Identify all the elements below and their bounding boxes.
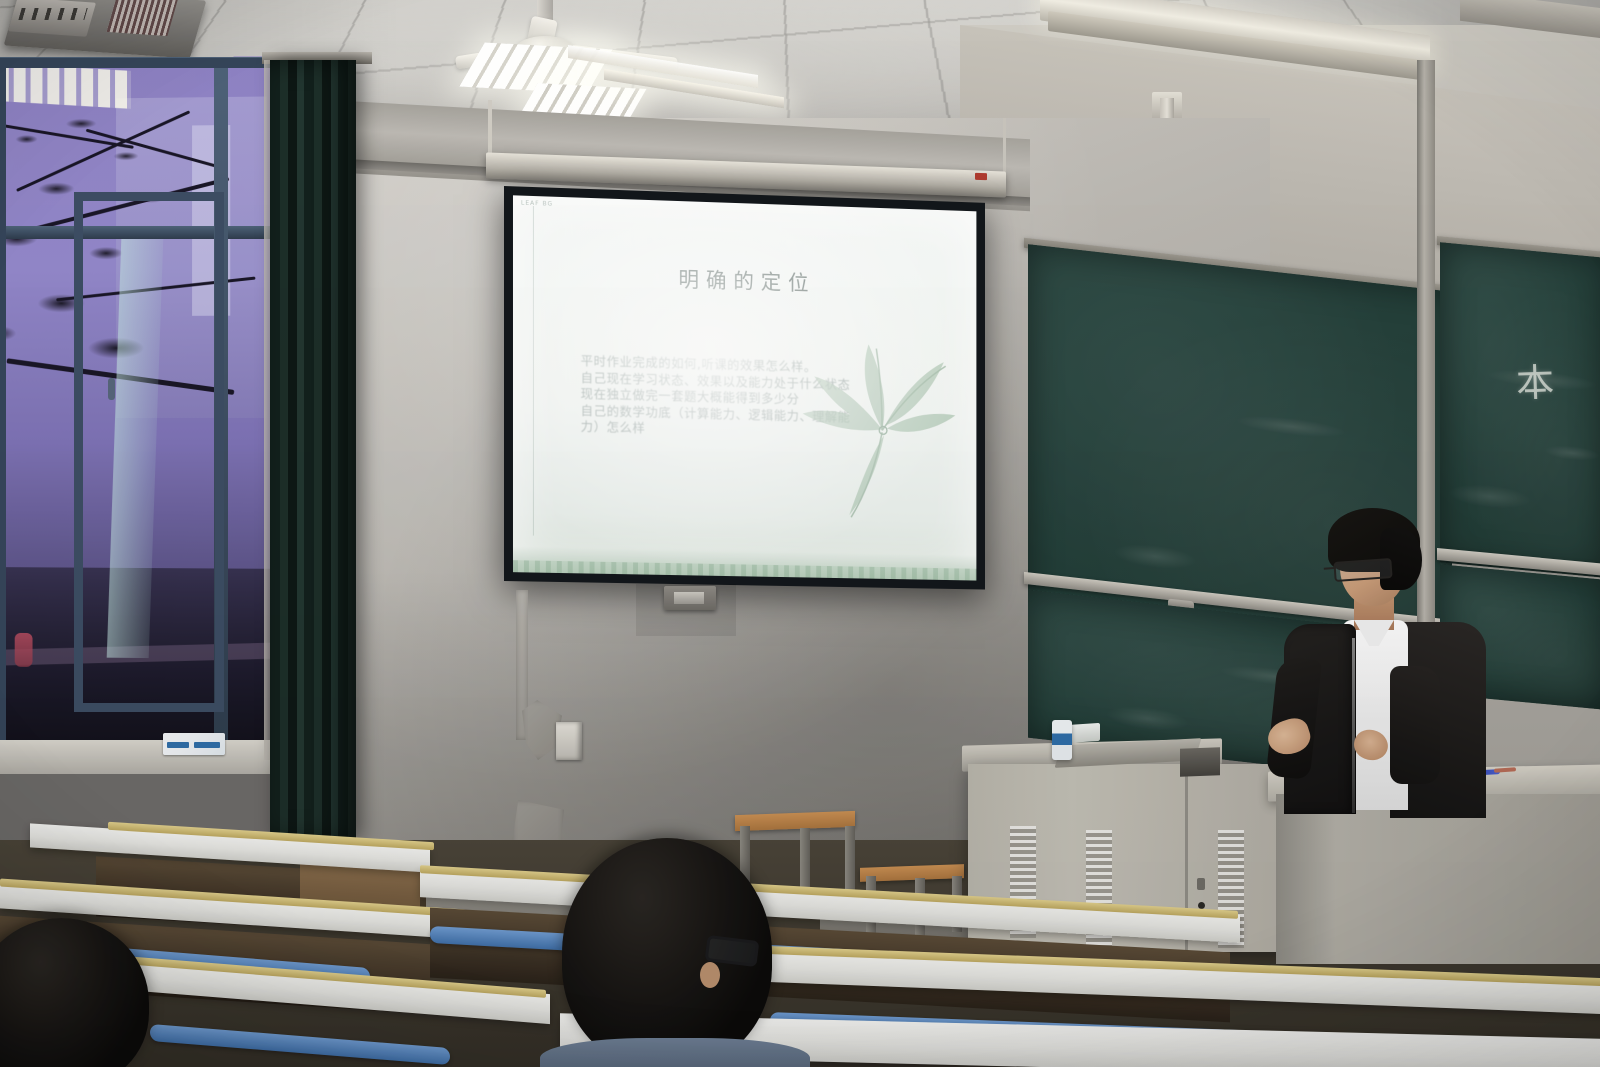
presenter-glasses [1333, 558, 1392, 582]
window-handle[interactable] [108, 378, 115, 400]
slide-title: 明确的定位 [513, 258, 976, 302]
window-sliding-sash[interactable] [74, 192, 224, 712]
chalkboard-character: 本 [1515, 351, 1555, 407]
student-ear [700, 962, 720, 988]
screen-drop-cord [1003, 118, 1006, 178]
projector-screen: LEAF BG 明确的定位 平时作业完成的如何,听课的效果怎么样。 自己现在学习… [504, 186, 985, 590]
wall-mount-bracket [664, 586, 716, 610]
bamboo-leaf-decoration [789, 332, 963, 533]
student-shoulders [540, 1038, 810, 1067]
window-light-reflection [0, 63, 131, 109]
podium-monitor-hinge [1180, 747, 1220, 776]
projector-knobs [18, 8, 87, 20]
screen-brand-label [975, 173, 987, 180]
presenter [1262, 498, 1522, 818]
window-sill [0, 740, 296, 774]
window-curtain[interactable] [270, 60, 356, 840]
presentation-slide: LEAF BG 明确的定位 平时作业完成的如何,听课的效果怎么样。 自己现在学习… [513, 195, 976, 580]
podium-lock[interactable] [1197, 878, 1205, 890]
slide-accent-line [533, 206, 534, 536]
slide-watermark: LEAF BG [521, 200, 553, 208]
lectern-shadow [1276, 794, 1336, 964]
presenter-arm-right [1390, 666, 1440, 784]
window-sill-sticker [163, 733, 225, 755]
person-outside [15, 633, 33, 667]
water-bottle [1052, 720, 1072, 760]
presenter-jacket-zipper [1352, 638, 1355, 813]
classroom-photo: 本 LEAF BG [0, 0, 1600, 1067]
projector-vent [107, 0, 180, 36]
wall-outlet[interactable] [556, 722, 582, 760]
window-head-rail [0, 57, 288, 67]
